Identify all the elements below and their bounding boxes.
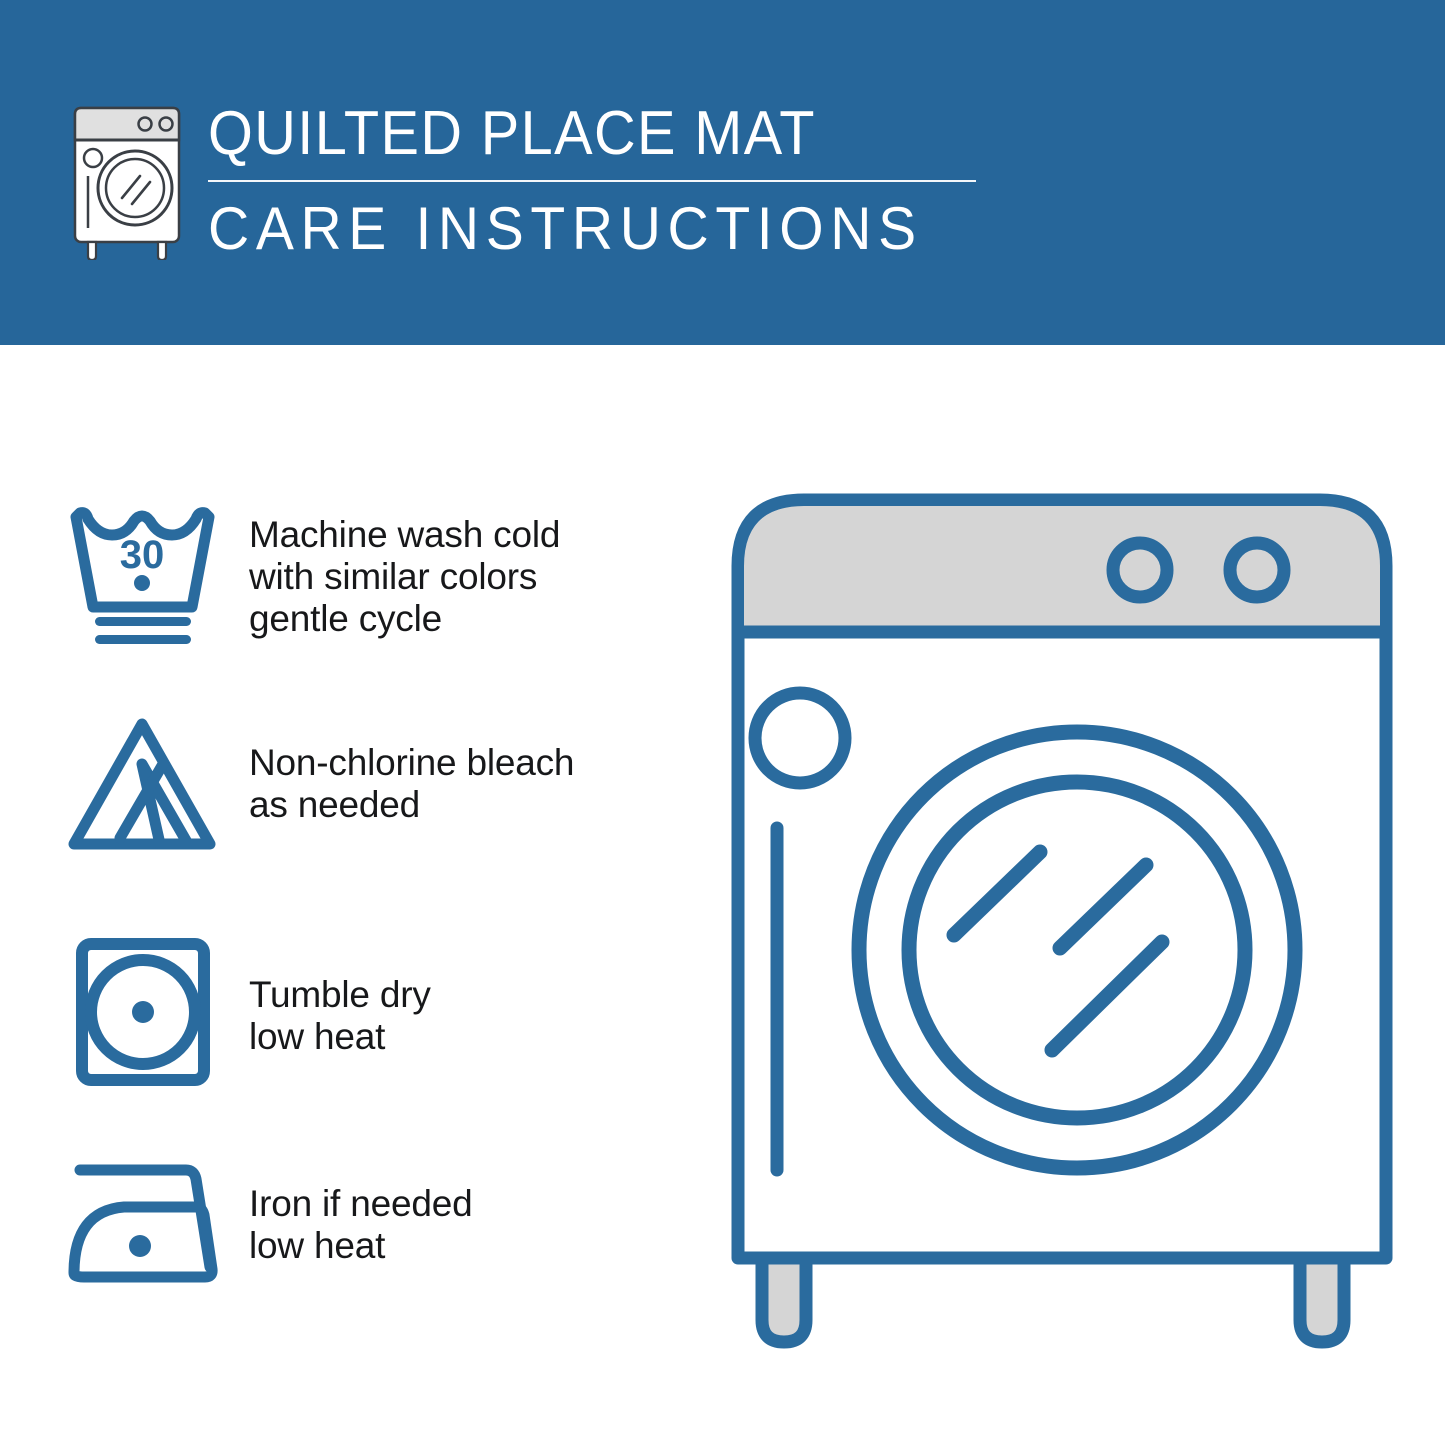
washing-machine-logo-icon <box>62 100 192 260</box>
header-text-block: QUILTED PLACE MAT CARE INSTRUCTIONS <box>208 98 998 264</box>
care-text-machine-wash: Machine wash cold with similar colors ge… <box>249 495 560 640</box>
detergent-dispenser-icon <box>755 693 845 783</box>
header-banner: QUILTED PLACE MAT CARE INSTRUCTIONS <box>0 0 1445 345</box>
care-row-bleach: Non-chlorine bleach as needed <box>62 712 574 877</box>
control-knob-right <box>1230 543 1284 597</box>
page-title: QUILTED PLACE MAT <box>208 98 943 170</box>
care-text-iron: Iron if needed low heat <box>249 1145 472 1267</box>
page-subtitle: CARE INSTRUCTIONS <box>208 194 959 264</box>
care-text-tumble-dry: Tumble dry low heat <box>249 932 431 1058</box>
control-knob-left <box>1113 543 1167 597</box>
care-text-bleach: Non-chlorine bleach as needed <box>249 712 574 826</box>
iron-icon <box>62 1145 227 1310</box>
title-divider <box>208 180 976 182</box>
care-row-machine-wash: 30 Machine wash cold with similar colors… <box>62 495 560 660</box>
care-instructions-page: QUILTED PLACE MAT CARE INSTRUCTIONS 30 M… <box>0 0 1445 1445</box>
care-row-tumble-dry: Tumble dry low heat <box>62 932 431 1097</box>
bleach-triangle-icon <box>62 712 227 877</box>
wash-tub-icon: 30 <box>62 495 227 660</box>
washing-machine-illustration <box>722 480 1402 1360</box>
wash-temp-label: 30 <box>120 533 165 577</box>
door-inner-ring <box>909 782 1245 1118</box>
tumble-dry-icon <box>62 932 227 1097</box>
machine-legs <box>762 1252 1344 1342</box>
care-row-iron: Iron if needed low heat <box>62 1145 472 1310</box>
